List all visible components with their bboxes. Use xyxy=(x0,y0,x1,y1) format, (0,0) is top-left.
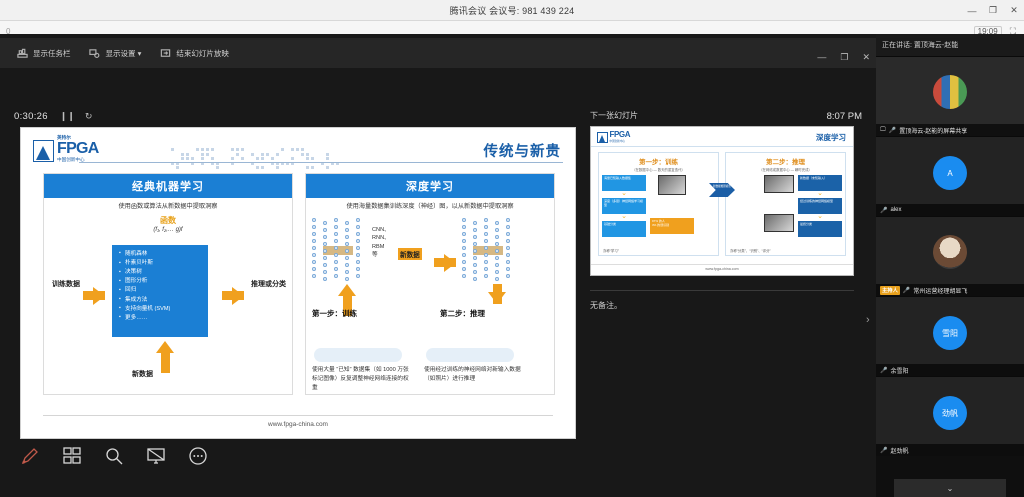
label-new-data: 新数据 xyxy=(132,369,153,379)
slide-header-rule xyxy=(79,162,563,163)
window-title: 腾讯会议 会议号: 981 439 224 xyxy=(450,4,575,17)
arrow-step1-up xyxy=(338,284,356,296)
deep-learning-body: 使用海量数据集训练深度（神经）图，以从新数据中提取洞察 CNN、 RNN、 RB… xyxy=(306,198,554,394)
end-show-icon xyxy=(159,47,171,59)
next-col1-caption: 亦称“学习” xyxy=(603,248,619,253)
participant-name: 余雪阳 xyxy=(890,366,908,375)
display-settings-button[interactable]: 显示设置 ▾ xyxy=(89,47,142,59)
more-options-icon[interactable] xyxy=(184,442,212,470)
label-new-data-dl: 新数据 xyxy=(398,248,422,260)
taskbar-icon xyxy=(16,47,28,59)
next-slide-logo: FPGA 中国创新中心 xyxy=(597,131,630,143)
next-col1-title: 第一步：训练 xyxy=(602,156,715,166)
next-slide-logo-mark xyxy=(597,132,608,143)
scroll-down-button[interactable]: ⌄ xyxy=(894,479,1006,497)
end-slideshow-label: 结束幻灯片放映 xyxy=(176,48,229,59)
mic-muted-icon: 🎤 xyxy=(880,207,887,214)
label-training-data: 训练数据 xyxy=(52,279,80,289)
participant-name: alex xyxy=(890,207,901,213)
elapsed-timer: 0:30:26 xyxy=(14,111,48,122)
training-photo xyxy=(658,175,686,195)
mic-muted-icon: 🎤 xyxy=(903,287,910,294)
classic-ml-panel: 经典机器学习 使用函数或算法从新数据中提取洞察 函数 (f₁, f₂,… g)f… xyxy=(43,173,293,395)
tile-label: 🎤 余雪阳 xyxy=(876,364,1024,376)
classic-ml-func-label: 函数 xyxy=(50,215,286,226)
chevron-down-icon: ⌄ xyxy=(602,192,646,197)
video-tile[interactable]: 主持人 🎤 常州运营经理胡显飞 xyxy=(876,216,1024,296)
speaker-notes: 无备注。 xyxy=(590,300,862,311)
next-slide-col-training: 第一步：训练 （在数据中心 — 数天的重复迭代） 海量已知输入数据集 ⌄ 深度（… xyxy=(598,152,719,256)
next-slide-section: 下一张幻灯片 FPGA 中国创新中心 深度学习 第一步：训练 xyxy=(590,110,862,311)
list-item: 回归 xyxy=(119,286,204,295)
list-item: 支持向量机 (SVM) xyxy=(119,305,204,314)
next-slide-body: 第一步：训练 （在数据中心 — 数天的重复迭代） 海量已知输入数据集 ⌄ 深度（… xyxy=(591,147,853,261)
classic-ml-formula: (f₁, f₂,… g)f xyxy=(50,227,286,233)
participant-name: 赵劲帆 xyxy=(890,446,908,455)
display-settings-icon xyxy=(89,47,101,59)
next-slide-logo-text: FPGA xyxy=(610,131,631,139)
tile-label: 🎤 赵劲帆 xyxy=(876,444,1024,456)
next-slide-header: FPGA 中国创新中心 深度学习 xyxy=(591,127,853,147)
mic-icon: 🎤 xyxy=(889,127,896,134)
blank-screen-icon[interactable] xyxy=(142,442,170,470)
show-taskbar-button[interactable]: 显示任务栏 xyxy=(16,47,71,59)
road-photo-bottom xyxy=(764,214,794,232)
slide-title: 传统与新贵 xyxy=(484,140,562,161)
next-col1-box3: 基础分类 xyxy=(602,221,646,237)
notes-divider xyxy=(590,290,854,291)
pen-icon[interactable] xyxy=(16,442,44,470)
classic-ml-lead: 使用函数或算法从新数据中提取洞察 xyxy=(50,203,286,212)
arrow-new-data-up xyxy=(156,341,174,353)
reset-timer-icon[interactable]: ↻ xyxy=(85,111,93,122)
participant-rail: 正在讲话: 置顶海云-赵能 🖵 🎤 置顶海云-赵能的屏幕共享 A 🎤 alex … xyxy=(876,34,1024,497)
neural-net-infer-icon xyxy=(462,218,514,282)
deep-learning-panel: 深度学习 使用海量数据集训练深度（神经）图，以从新数据中提取洞察 CNN、 RN… xyxy=(305,173,555,395)
list-item: 集成方法 xyxy=(119,296,204,305)
avatar xyxy=(933,235,967,269)
window-controls: — ❐ ✕ xyxy=(966,0,1020,21)
tile-label: 🎤 alex xyxy=(876,204,1024,216)
minimize-button[interactable]: — xyxy=(966,6,978,16)
fpga-logo: 英特尔 FPGA 中国创新中心 xyxy=(33,136,99,162)
classic-ml-heading: 经典机器学习 xyxy=(44,174,292,198)
participant-name: 置顶海云-赵能的屏幕共享 xyxy=(899,126,967,135)
deep-learning-heading: 深度学习 xyxy=(306,174,554,198)
list-item: 朴素贝叶斯 xyxy=(119,259,204,268)
presenter-close-button[interactable]: ✕ xyxy=(862,52,870,63)
arrow-step2-down xyxy=(488,292,506,304)
window-titlebar: 腾讯会议 会议号: 981 439 224 — ❐ ✕ xyxy=(0,0,1024,21)
presenter-window-controls: — ❐ ✕ xyxy=(817,42,870,72)
mic-muted-icon: 🎤 xyxy=(880,447,887,454)
algorithm-list-box: 随机森林 朴素贝叶斯 决策树 图形分析 回归 集成方法 支持向量机 (SVM) … xyxy=(112,245,208,337)
presenter-maximize-button[interactable]: ❐ xyxy=(840,52,848,63)
next-col2-box3: 最终分类 xyxy=(798,221,842,237)
current-slide[interactable]: 英特尔 FPGA 中国创新中心 传统与新贵 经典机器学习 使用函数或算法从新数据… xyxy=(20,127,576,439)
next-col2-caption: 亦称“分类”、“识别”、“评分” xyxy=(730,248,771,253)
next-slide-footer: www.fpga-china.com xyxy=(591,264,853,271)
fpga-logo-text: 英特尔 FPGA 中国创新中心 xyxy=(57,136,99,162)
presenter-bottom-toolbar xyxy=(16,442,212,470)
pause-timer-icon[interactable]: ❙❙ xyxy=(60,111,75,122)
screen-share-icon: 🖵 xyxy=(880,127,886,134)
next-col1-subtitle: （在数据中心 — 数天的重复迭代） xyxy=(602,167,715,172)
step-one-description: 使用大量 “已知” 数据集（如 1000 万张标记图像）反复调整神经网络连接的权… xyxy=(312,366,412,392)
meeting-window: 腾讯会议 会议号: 981 439 224 — ❐ ✕ 0 19:09 ⛶ 显示… xyxy=(0,0,1024,497)
next-slide-preview[interactable]: FPGA 中国创新中心 深度学习 第一步：训练 （在数据中心 — 数天的重复迭代… xyxy=(590,126,854,276)
slide-grid-icon[interactable] xyxy=(58,442,86,470)
host-badge: 主持人 xyxy=(880,286,900,295)
label-inference: 推理或分类 xyxy=(251,279,286,289)
network-types-label: CNN、 RNN、 RBM 等 xyxy=(372,226,390,260)
logo-big: FPGA xyxy=(57,141,99,157)
slide-header: 英特尔 FPGA 中国创新中心 传统与新贵 xyxy=(21,128,575,168)
video-tile[interactable]: 雪阳 🎤 余雪阳 xyxy=(876,296,1024,376)
slide-panels: 经典机器学习 使用函数或算法从新数据中提取洞察 函数 (f₁, f₂,… g)f… xyxy=(21,173,577,395)
tile-label: 🖵 🎤 置顶海云-赵能的屏幕共享 xyxy=(876,124,1024,136)
video-tile[interactable]: 🖵 🎤 置顶海云-赵能的屏幕共享 xyxy=(876,56,1024,136)
label-step-two: 第二步：推理 xyxy=(440,308,485,319)
end-slideshow-button[interactable]: 结束幻灯片放映 xyxy=(159,47,229,59)
close-button[interactable]: ✕ xyxy=(1008,5,1020,16)
show-taskbar-label: 显示任务栏 xyxy=(33,48,71,59)
next-col2-subtitle: （在网络或数据中心 — 瞬时完成） xyxy=(729,167,842,172)
next-slide-title: 深度学习 xyxy=(816,132,846,143)
step-two-description: 使用经过训练的神经网络对新输入数据（如照片）进行推理 xyxy=(424,366,524,384)
decorative-pill-right xyxy=(426,348,514,362)
chevron-down-icon: ⌄ xyxy=(602,215,646,220)
decorative-pill-left xyxy=(314,348,402,362)
neural-net-train-icon xyxy=(312,218,364,282)
next-col2-box2: 经过训练的神经网络模型 xyxy=(798,198,842,214)
timer-controls: ❙❙ ↻ xyxy=(60,111,93,122)
presenter-view: 显示任务栏 显示设置 ▾ 结束幻灯片放映 — ❐ ✕ 0:30:26 xyxy=(0,34,876,497)
video-tile[interactable]: 劲帆 🎤 赵劲帆 xyxy=(876,376,1024,456)
tile-label: 主持人 🎤 常州运营经理胡显飞 xyxy=(876,284,1024,296)
next-col1-accuracy-box: 97% 的人 3% 的误识别 xyxy=(650,218,694,234)
next-slide-arrow[interactable]: › xyxy=(866,314,870,326)
fpga-logo-mark xyxy=(33,140,54,162)
avatar: 雪阳 xyxy=(933,316,967,350)
avatar: 劲帆 xyxy=(933,396,967,430)
list-item: 决策树 xyxy=(119,268,204,277)
list-item: 随机森林 xyxy=(119,250,204,259)
arrow-model-to-inference xyxy=(232,287,244,305)
classic-ml-diagram: 训练数据 随机森林 朴素贝叶斯 决策树 图形分析 回归 集成方法 xyxy=(50,241,286,381)
next-slide-logo-sub: 中国创新中心 xyxy=(610,139,631,143)
presenter-toolbar: 显示任务栏 显示设置 ▾ 结束幻灯片放映 — ❐ ✕ xyxy=(0,38,876,68)
magnifier-icon[interactable] xyxy=(100,442,128,470)
video-tile[interactable]: A 🎤 alex xyxy=(876,136,1024,216)
slide-footer: www.fpga-china.com xyxy=(43,415,553,428)
participant-name: 常州运营经理胡显飞 xyxy=(913,286,967,295)
list-item: 更多…… xyxy=(119,314,204,323)
label-step-one: 第一步：训练 xyxy=(312,308,357,319)
classic-ml-body: 使用函数或算法从新数据中提取洞察 函数 (f₁, f₂,… g)f 训练数据 随… xyxy=(44,198,292,394)
avatar xyxy=(933,75,967,109)
next-slide-col-inference: 第二步：推理 （在网络或数据中心 — 瞬时完成） 新数据（未知输入） ⌄ xyxy=(725,152,846,256)
display-settings-label: 显示设置 ▾ xyxy=(106,48,142,59)
chevron-down-icon: ⌄ xyxy=(798,215,842,220)
avatar: A xyxy=(933,156,967,190)
next-col1-box1: 海量已知输入数据集 xyxy=(602,175,646,191)
deep-learning-lead: 使用海量数据集训练深度（神经）图，以从新数据中提取洞察 xyxy=(312,203,548,212)
next-col1-box2: 深度（多层）神经网络学习模型 xyxy=(602,198,646,214)
list-item: 图形分析 xyxy=(119,277,204,286)
arrow-train-to-model xyxy=(93,287,105,305)
deep-learning-diagram: CNN、 RNN、 RBM 等 新数据 第一步：训练 第二步：推理 xyxy=(312,218,548,318)
next-slide-label: 下一张幻灯片 xyxy=(590,110,862,121)
arrow-train-to-infer xyxy=(444,254,456,272)
next-col2-title: 第二步：推理 xyxy=(729,156,842,166)
road-photo-top xyxy=(764,175,794,193)
dot-decoration xyxy=(171,148,351,170)
chevron-down-icon: ⌄ xyxy=(798,192,842,197)
presenter-minimize-button[interactable]: — xyxy=(817,52,826,62)
next-col2-box1: 新数据（未知输入） xyxy=(798,175,842,191)
maximize-button[interactable]: ❐ xyxy=(987,5,999,16)
mic-muted-icon: 🎤 xyxy=(880,367,887,374)
active-speaker-label: 正在讲话: 置顶海云-赵能 xyxy=(876,34,1024,56)
